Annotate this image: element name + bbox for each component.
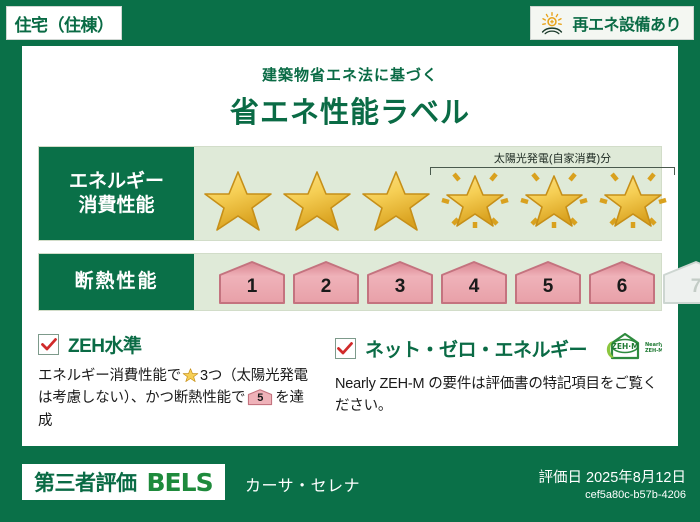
energy-star-rating xyxy=(194,164,671,232)
check-icon xyxy=(41,338,57,351)
claim-zeh-standard: ZEH水準 エネルギー消費性能で3つ（太陽光発電は考慮しない）、かつ断熱性能で5… xyxy=(38,331,317,432)
category-tab-label: 住宅（住棟） xyxy=(15,11,114,36)
claims-section: ZEH水準 エネルギー消費性能で3つ（太陽光発電は考慮しない）、かつ断熱性能で5… xyxy=(38,331,662,432)
renewable-energy-badge: 再エネ設備あり xyxy=(530,6,694,40)
energy-performance-label: 住宅（住棟） 再エネ設備あり 建築物省エネ法に基づく 省エネ性能ラベル xyxy=(0,0,700,522)
insulation-grade-badge-4: 4 xyxy=(438,259,510,305)
insulation-grade-badge-1: 1 xyxy=(216,259,288,305)
energy-performance-label-block: エネルギー 消費性能 xyxy=(39,147,194,240)
insulation-grade-badge-6: 6 xyxy=(586,259,658,305)
checkbox-checked xyxy=(335,338,356,359)
bels-logo-text: BELS xyxy=(147,468,213,497)
checkbox-checked xyxy=(38,334,59,355)
insulation-row-body: 1 2 3 xyxy=(194,254,700,310)
insulation-grade-badge-5: 5 xyxy=(512,259,584,305)
label-card: 建築物省エネ法に基づく 省エネ性能ラベル エネルギー 消費性能 太陽光発電(自家… xyxy=(22,46,678,446)
solar-star-icon xyxy=(516,164,592,232)
evaluation-date: 評価日 2025年8月12日 xyxy=(539,466,686,487)
energy-row-body: 太陽光発電(自家消費)分 xyxy=(194,147,671,240)
page-title: 省エネ性能ラベル xyxy=(22,89,678,131)
insulation-label: 断熱性能 xyxy=(74,270,158,294)
claim-net-zero-energy: ネット・ゼロ・エネルギー ZEH·M Nearly ZEH-M Nearly Z… xyxy=(335,331,662,432)
footer-meta: 評価日 2025年8月12日 cef5a80c-b57b-4206 xyxy=(539,466,686,501)
label-subtitle: 建築物省エネ法に基づく xyxy=(22,64,678,85)
renewable-badge-label: 再エネ設備あり xyxy=(572,11,681,35)
claim-body: エネルギー消費性能で3つ（太陽光発電は考慮しない）、かつ断熱性能で5を達成 xyxy=(38,365,317,432)
claim-header: ZEH水準 xyxy=(38,331,317,358)
label-heading: 建築物省エネ法に基づく 省エネ性能ラベル xyxy=(22,64,678,131)
label-footer: 第三者評価 BELS カーサ・セレナ 評価日 2025年8月12日 cef5a8… xyxy=(0,456,700,522)
grade-value: 6 xyxy=(586,276,658,298)
star-icon xyxy=(358,164,434,232)
evaluation-id: cef5a80c-b57b-4206 xyxy=(539,489,686,501)
bels-certification-plate: 第三者評価 BELS xyxy=(22,464,225,500)
solar-star-icon xyxy=(595,164,671,232)
performance-rows: エネルギー 消費性能 太陽光発電(自家消費)分 xyxy=(38,146,662,323)
grade-value: 2 xyxy=(290,276,362,298)
svg-text:ZEH·M: ZEH·M xyxy=(611,342,638,351)
claim-text-part1: エネルギー消費性能で xyxy=(38,368,181,384)
energy-label-line1: エネルギー xyxy=(69,170,164,194)
star-icon xyxy=(182,366,199,383)
category-tab: 住宅（住棟） xyxy=(6,6,122,40)
energy-performance-row: エネルギー 消費性能 太陽光発電(自家消費)分 xyxy=(38,146,662,241)
grade-value: 3 xyxy=(364,276,436,298)
grade-value: 1 xyxy=(216,276,288,298)
grade-value: 7 xyxy=(660,276,700,298)
house-grade-value: 5 xyxy=(247,390,273,407)
energy-label-line2: 消費性能 xyxy=(78,194,154,218)
svg-text:ZEH-M: ZEH-M xyxy=(645,348,662,354)
zeh-m-house-logo: ZEH·M Nearly ZEH-M xyxy=(600,331,662,366)
star-icon xyxy=(200,164,276,232)
check-icon xyxy=(337,342,353,355)
bels-jp-label: 第三者評価 xyxy=(34,467,137,497)
property-name: カーサ・セレナ xyxy=(245,472,360,496)
insulation-performance-row: 断熱性能 1 xyxy=(38,253,662,311)
grade-value: 5 xyxy=(512,276,584,298)
claim-title: ZEH水準 xyxy=(68,331,142,358)
claim-header: ネット・ゼロ・エネルギー ZEH·M Nearly ZEH-M xyxy=(335,331,662,366)
house-grade-5-icon: 5 xyxy=(247,388,273,406)
star-icon xyxy=(279,164,355,232)
claim-title: ネット・ゼロ・エネルギー xyxy=(365,335,587,362)
solar-star-icon xyxy=(437,164,513,232)
insulation-grade-badge-7: 7 xyxy=(660,259,700,305)
claim-body: Nearly ZEH-M の要件は評価書の特記項目をご覧ください。 xyxy=(335,373,662,418)
insulation-grade-scale: 1 2 3 xyxy=(194,259,700,305)
grade-value: 4 xyxy=(438,276,510,298)
insulation-grade-badge-3: 3 xyxy=(364,259,436,305)
insulation-performance-label-block: 断熱性能 xyxy=(39,254,194,310)
solar-sun-icon xyxy=(539,11,565,35)
insulation-grade-badge-2: 2 xyxy=(290,259,362,305)
